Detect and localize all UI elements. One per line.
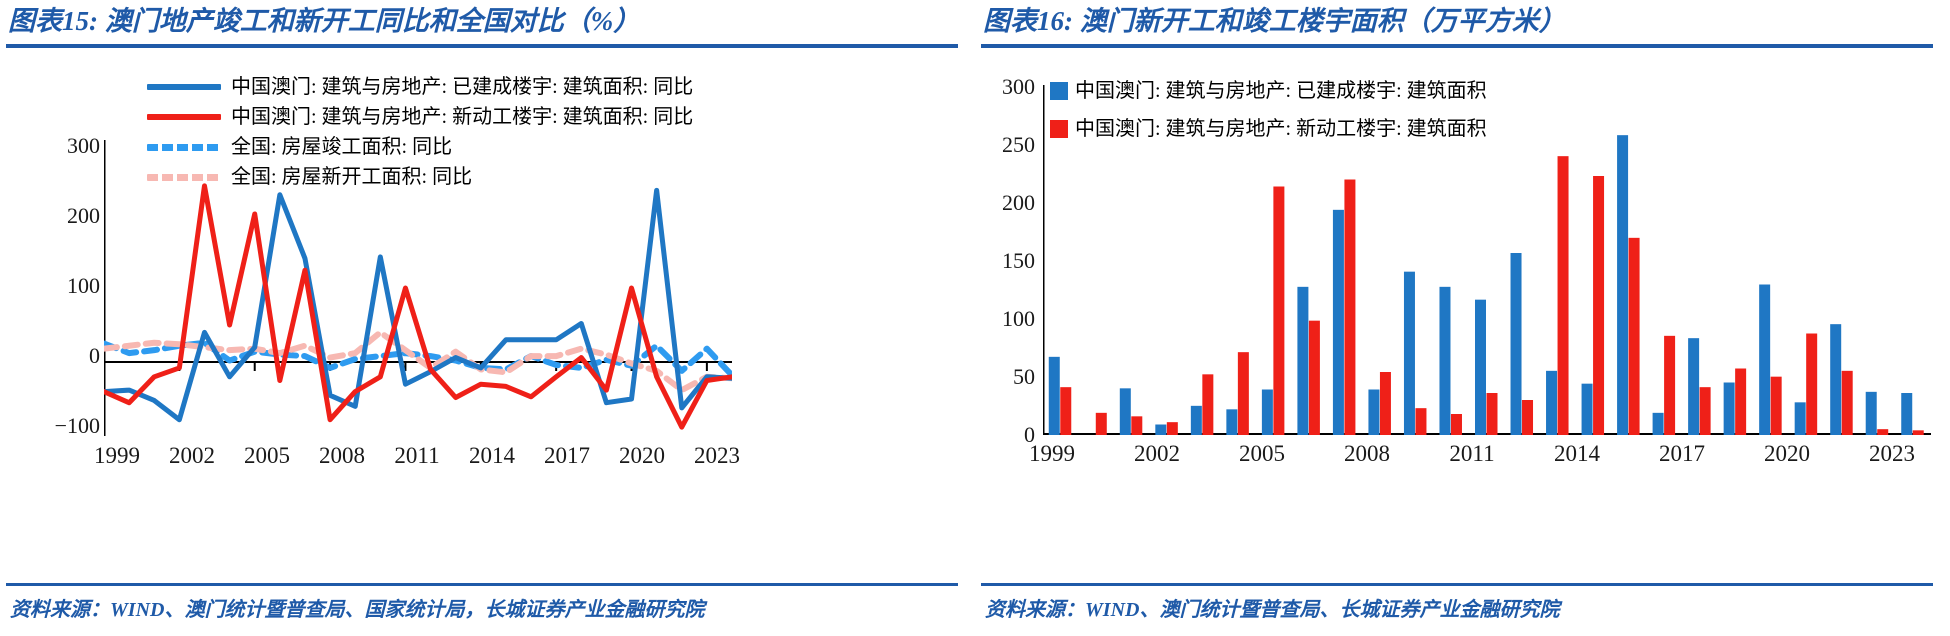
right-source-rule bbox=[981, 583, 1933, 586]
x-tick-label: 2017 bbox=[1627, 441, 1737, 467]
left-chart-title: 图表15: 澳门地产竣工和新开工同比和全国对比（%） bbox=[8, 4, 958, 38]
line-chart-svg bbox=[104, 140, 732, 436]
legend-item[interactable]: 中国澳门: 建筑与房地产: 新动工楼宇: 建筑面积: 同比 bbox=[145, 102, 693, 132]
left-source-rule bbox=[6, 583, 958, 586]
x-tick-label: 2005 bbox=[1207, 441, 1317, 467]
y-tick-label: 300 bbox=[20, 133, 100, 159]
legend-item[interactable]: 中国澳门: 建筑与房地产: 已建成楼宇: 建筑面积: 同比 bbox=[145, 72, 693, 102]
x-tick-label: 2023 bbox=[1837, 441, 1947, 467]
right-title-rule bbox=[981, 44, 1933, 48]
y-tick-label: 150 bbox=[955, 248, 1035, 274]
right-chart-panel: 图表16: 澳门新开工和竣工楼宇面积（万平方米） 中国澳门: 建筑与房地产: 已… bbox=[975, 0, 1943, 636]
y-tick-label: −100 bbox=[12, 413, 100, 439]
y-tick-label: 50 bbox=[955, 364, 1035, 390]
right-chart-title: 图表16: 澳门新开工和竣工楼宇面积（万平方米） bbox=[983, 4, 1933, 38]
legend-line-swatch-macau-started bbox=[145, 108, 223, 126]
y-tick-label: 250 bbox=[955, 132, 1035, 158]
y-tick-label: 0 bbox=[20, 343, 100, 369]
y-tick-label: 300 bbox=[955, 74, 1035, 100]
left-title-rule bbox=[6, 44, 958, 48]
right-plot-area bbox=[1043, 85, 1931, 435]
left-source-text: 资料来源：WIND、澳门统计暨普查局、国家统计局，长城证券产业金融研究院 bbox=[10, 593, 704, 622]
left-chart-panel: 图表15: 澳门地产竣工和新开工同比和全国对比（%） 中国澳门: 建筑与房地产:… bbox=[0, 0, 968, 636]
x-tick-label: 2020 bbox=[1732, 441, 1842, 467]
left-plot-area bbox=[104, 140, 732, 436]
y-tick-label: 200 bbox=[20, 203, 100, 229]
x-tick-label: 2002 bbox=[1102, 441, 1212, 467]
right-chart-header: 图表16: 澳门新开工和竣工楼宇面积（万平方米） bbox=[983, 4, 1933, 48]
y-tick-label: 100 bbox=[955, 306, 1035, 332]
legend-line-swatch-macau-completed bbox=[145, 78, 223, 96]
x-tick-label: 2011 bbox=[1417, 441, 1527, 467]
right-source-text: 资料来源：WIND、澳门统计暨普查局、长城证券产业金融研究院 bbox=[985, 593, 1559, 622]
x-tick-label: 2023 bbox=[662, 443, 772, 469]
left-chart-header: 图表15: 澳门地产竣工和新开工同比和全国对比（%） bbox=[8, 4, 958, 48]
bar-chart-svg bbox=[1043, 85, 1931, 435]
y-tick-label: 100 bbox=[20, 273, 100, 299]
legend-label: 中国澳门: 建筑与房地产: 已建成楼宇: 建筑面积: 同比 bbox=[231, 77, 693, 97]
legend-label: 中国澳门: 建筑与房地产: 新动工楼宇: 建筑面积: 同比 bbox=[231, 107, 693, 127]
x-tick-label: 1999 bbox=[997, 441, 1107, 467]
x-tick-label: 2014 bbox=[1522, 441, 1632, 467]
figure-page: 图表15: 澳门地产竣工和新开工同比和全国对比（%） 中国澳门: 建筑与房地产:… bbox=[0, 0, 1950, 636]
x-tick-label: 2008 bbox=[1312, 441, 1422, 467]
y-tick-label: 200 bbox=[955, 190, 1035, 216]
